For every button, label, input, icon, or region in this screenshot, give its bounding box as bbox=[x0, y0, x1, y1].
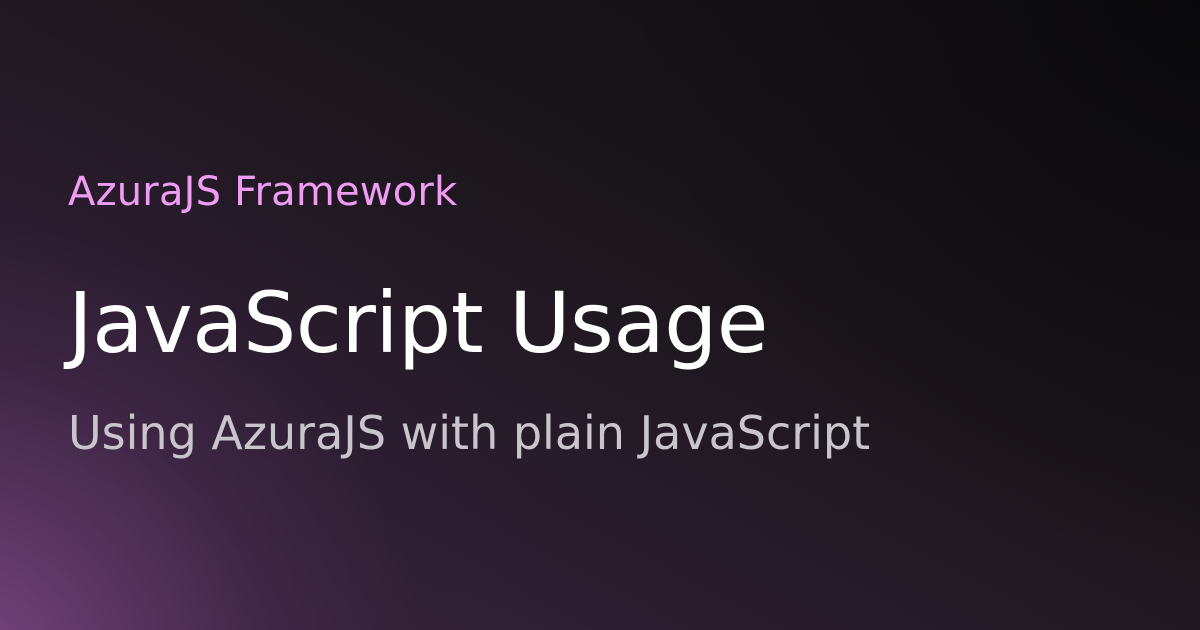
og-banner-card: AzuraJS Framework JavaScript Usage Using… bbox=[0, 0, 1200, 630]
page-title: JavaScript Usage bbox=[68, 281, 768, 367]
card-content: AzuraJS Framework JavaScript Usage Using… bbox=[68, 0, 1132, 630]
framework-eyebrow-label: AzuraJS Framework bbox=[68, 171, 457, 213]
page-subtitle: Using AzuraJS with plain JavaScript bbox=[68, 409, 870, 459]
